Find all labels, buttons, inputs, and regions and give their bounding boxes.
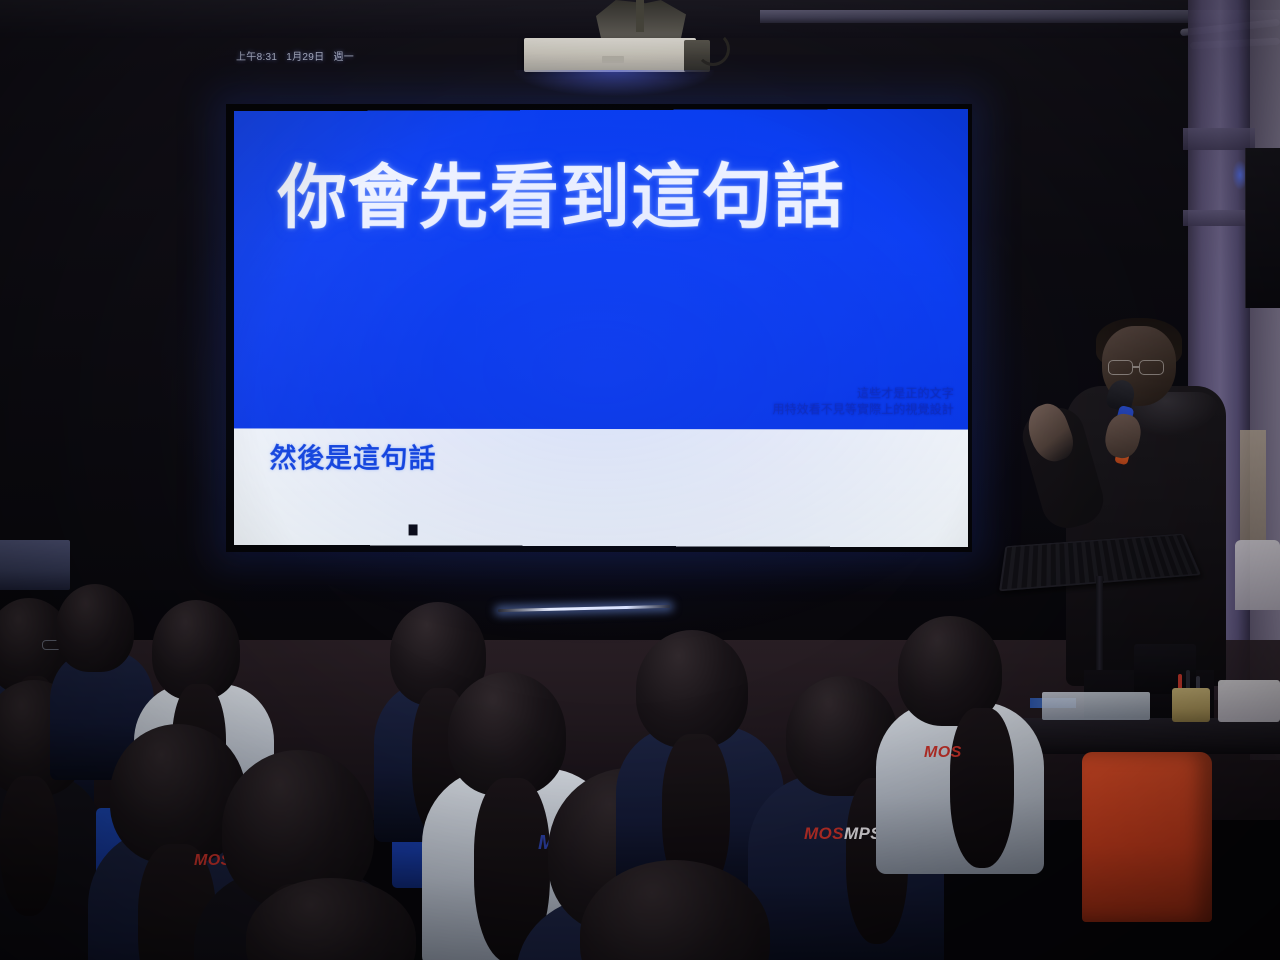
ceiling-projector bbox=[524, 30, 710, 72]
glasses-lens-right bbox=[1139, 360, 1164, 375]
student-ponytail bbox=[0, 776, 58, 916]
audience: MPS MOS MPS bbox=[0, 560, 1280, 960]
uniform-logo: MOSMPS bbox=[804, 824, 882, 844]
slide-title: 你會先看到這句話 bbox=[278, 161, 938, 232]
clock-time: 上午8:31 bbox=[236, 48, 277, 63]
projector-arm bbox=[636, 0, 644, 32]
uniform-logo-mos: MOS bbox=[804, 824, 844, 843]
clock-weekday: 週一 bbox=[333, 48, 354, 63]
pillar-bracket bbox=[1183, 128, 1255, 150]
uniform-logo-mos: MOS bbox=[924, 744, 962, 761]
wall-speaker bbox=[1245, 148, 1280, 308]
projection-screen[interactable]: 你會先看到這句話 這些才是正的文字 用特效看不見等實際上的視覺設計 然後是這句話 bbox=[234, 109, 968, 547]
presentation-photo-scene: 你會先看到這句話 這些才是正的文字 用特效看不見等實際上的視覺設計 然後是這句話… bbox=[0, 0, 1280, 960]
glasses-icon bbox=[1108, 360, 1170, 375]
projector-glow bbox=[514, 70, 714, 96]
slide-blue-panel bbox=[234, 109, 968, 430]
uniform-logo: MOS bbox=[924, 744, 962, 762]
projector-vent bbox=[602, 56, 624, 63]
slide-faint-note: 這些才是正的文字 用特效看不見等實際上的視覺設計 bbox=[632, 385, 954, 418]
projector-body bbox=[524, 38, 696, 72]
projector-cable bbox=[696, 32, 730, 66]
student-hair bbox=[636, 630, 748, 748]
glasses-lens-left bbox=[1108, 360, 1133, 375]
student-hair bbox=[56, 584, 134, 672]
slide-subtitle: 然後是這句話 bbox=[270, 436, 437, 475]
student-ponytail bbox=[950, 708, 1014, 868]
clock-date: 1月29日 bbox=[286, 48, 324, 63]
slide-cursor-marker bbox=[409, 524, 418, 535]
slide-faint-note-line1: 這些才是正的文字 bbox=[632, 385, 954, 402]
back-wall bbox=[0, 30, 240, 590]
slide-faint-note-line2: 用特效看不見等實際上的視覺設計 bbox=[632, 401, 954, 418]
os-clock-overlay: 上午8:31 1月29日 週一 bbox=[236, 48, 354, 63]
